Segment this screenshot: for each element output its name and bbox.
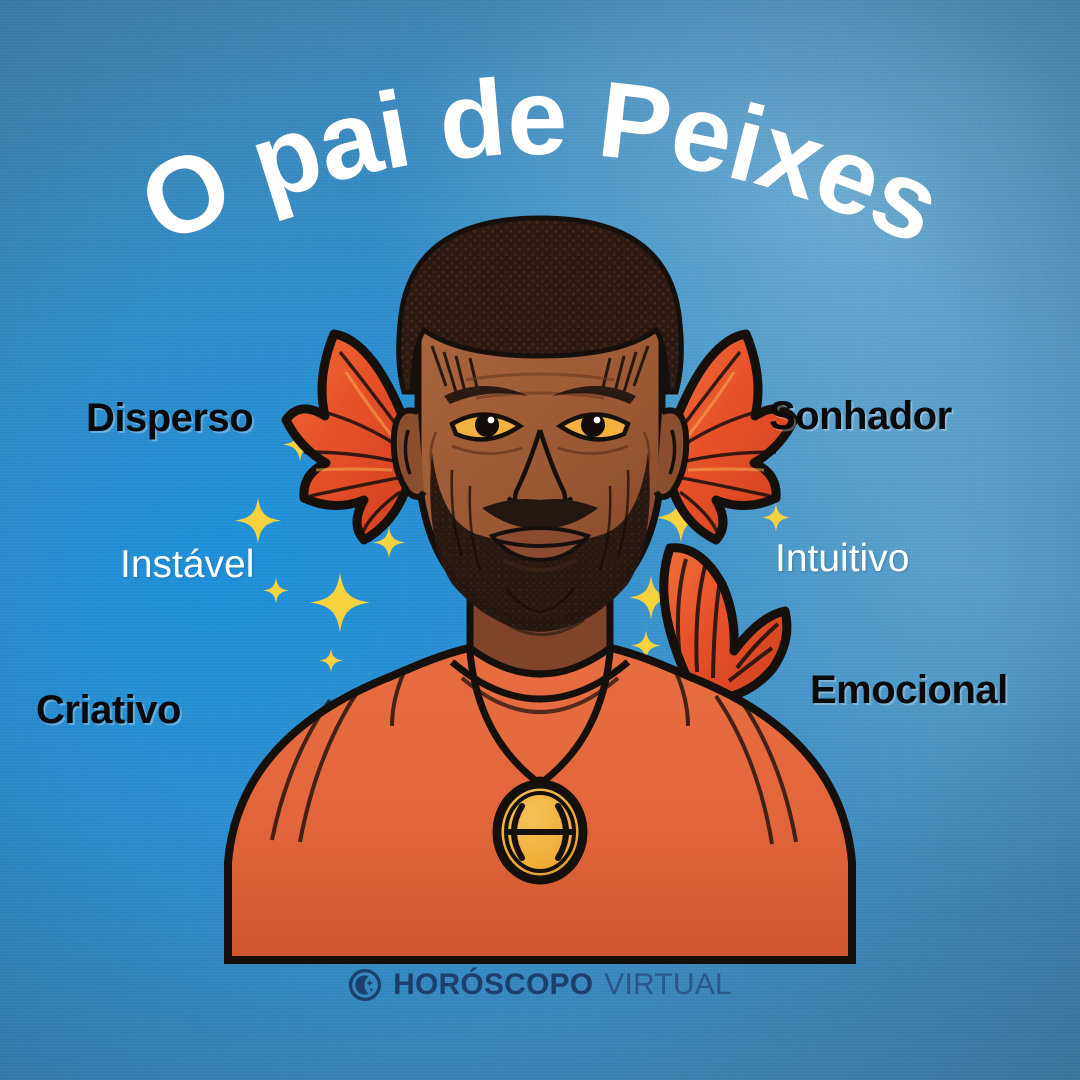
logo-text-primary: HORÓSCOPO <box>393 970 593 1000</box>
page-title: O pai de Peixes O pai de Peixes O pai de… <box>0 0 1080 300</box>
trait-label-emocional: Emocional <box>810 670 1008 710</box>
pisces-pendant <box>497 784 583 880</box>
trait-label-criativo: Criativo <box>36 690 181 730</box>
trait-label-instavel: Instável <box>120 545 254 584</box>
brand-logo[interactable]: HORÓSCOPO VIRTUAL <box>0 968 1080 1002</box>
logo-text-secondary: VIRTUAL <box>604 970 732 1000</box>
poster-canvas: O pai de Peixes O pai de Peixes O pai de… <box>0 0 1080 1080</box>
title-main-layer: O pai de Peixes <box>123 56 958 267</box>
title-text: O pai de Peixes <box>123 56 958 267</box>
trait-label-sonhador: Sonhador <box>769 396 952 436</box>
trait-label-disperso: Disperso <box>86 398 253 438</box>
moon-star-icon <box>348 968 382 1002</box>
trait-label-intuitivo: Intuitivo <box>775 539 909 578</box>
